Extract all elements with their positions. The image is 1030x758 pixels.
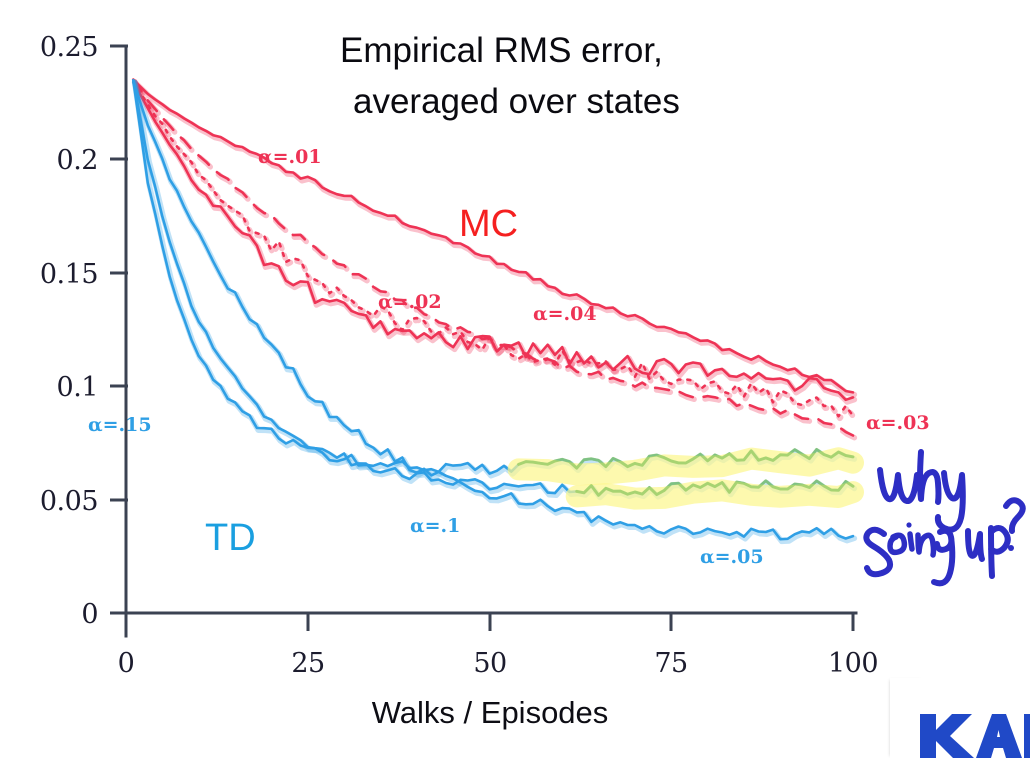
series-label-td-a1: α=.1 bbox=[410, 515, 460, 537]
x-tick-label-100: 100 bbox=[828, 648, 878, 679]
page-edge-shadow bbox=[890, 678, 924, 758]
series-curve-shadow bbox=[135, 83, 855, 476]
x-tick-label-75: 75 bbox=[654, 648, 687, 679]
y-tick-label-025: 0.25 bbox=[40, 32, 98, 63]
series-curves bbox=[133, 80, 854, 542]
group-label-td: TD bbox=[205, 517, 256, 559]
series-label-td-a05: α=.05 bbox=[700, 546, 764, 568]
group-label-mc: MC bbox=[459, 203, 518, 245]
y-tick-label-02: 0.2 bbox=[57, 145, 98, 176]
y-tick-label-0: 0 bbox=[81, 599, 98, 630]
rms-error-chart: 0.25 0.2 0.15 0.1 0.05 0 0 25 50 75 100 … bbox=[0, 0, 1030, 758]
chart-title-line-1: Empirical RMS error, bbox=[340, 31, 663, 70]
chart-title: Empirical RMS error, averaged over state… bbox=[340, 31, 680, 121]
series-curve bbox=[133, 80, 853, 495]
x-tick-marks bbox=[126, 604, 853, 631]
x-tick-label-25: 25 bbox=[291, 648, 324, 679]
series-curve-shadow bbox=[135, 82, 855, 419]
x-axis-title: Walks / Episodes bbox=[372, 695, 609, 730]
series-label-mc-a04: α=.04 bbox=[533, 303, 597, 325]
series-label-td-a15: α=.15 bbox=[88, 414, 152, 436]
series-label-mc-a02: α=.02 bbox=[378, 291, 442, 313]
highlighter-annotations bbox=[519, 449, 853, 498]
y-tick-label-01: 0.1 bbox=[57, 372, 98, 403]
series-curve bbox=[133, 80, 853, 417]
y-tick-label-005: 0.05 bbox=[40, 486, 98, 517]
slide-canvas: 0.25 0.2 0.15 0.1 0.05 0 0 25 50 75 100 … bbox=[0, 0, 1030, 758]
x-tick-label-50: 50 bbox=[473, 648, 506, 679]
chart-title-line-2: averaged over states bbox=[353, 82, 680, 121]
series-label-mc-a01: α=.01 bbox=[258, 146, 322, 168]
y-tick-label-015: 0.15 bbox=[40, 259, 98, 290]
handwritten-note: why going up? bbox=[866, 452, 1022, 583]
x-tick-label-0: 0 bbox=[118, 648, 135, 679]
series-curve-shadow bbox=[135, 83, 855, 498]
series-label-mc-a03: α=.03 bbox=[866, 412, 930, 434]
